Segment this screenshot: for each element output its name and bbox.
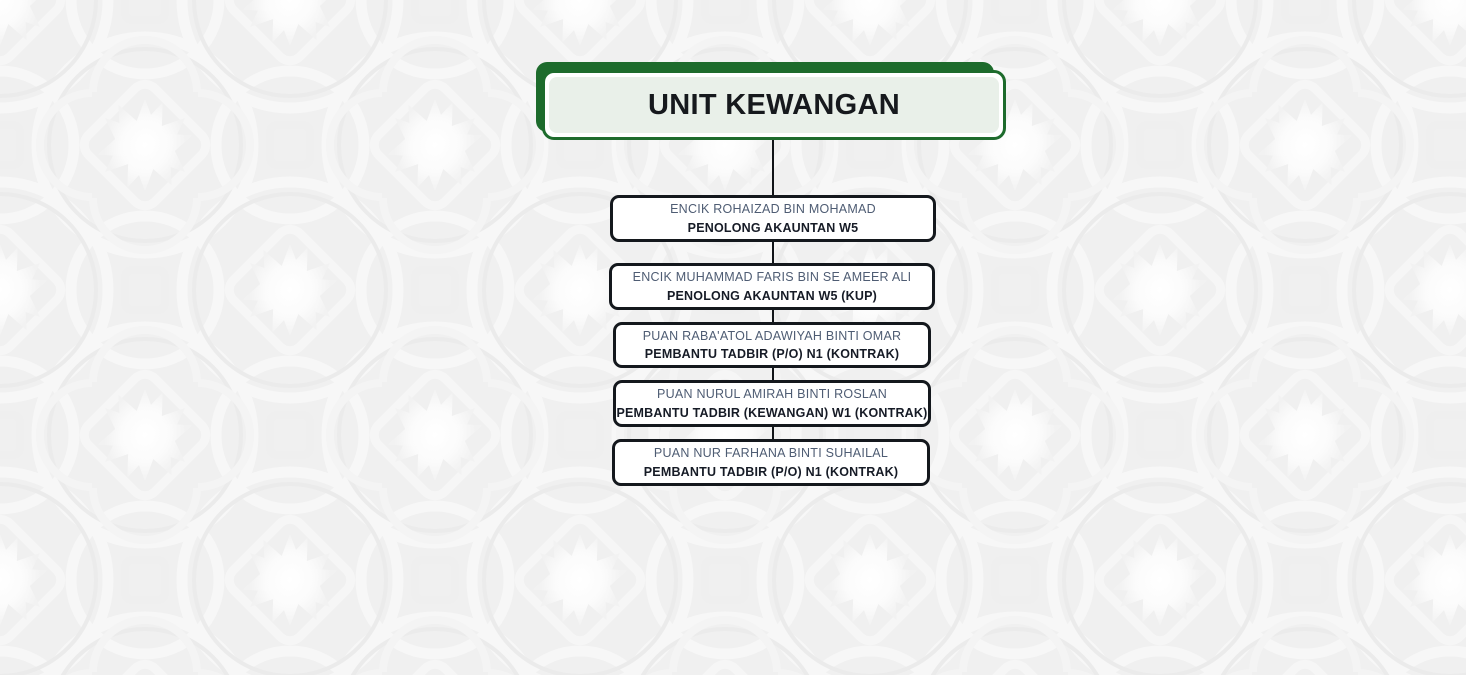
staff-position: PENOLONG AKAUNTAN W5 — [688, 219, 859, 237]
staff-card[interactable]: PUAN RABA'ATOL ADAWIYAH BINTI OMAR PEMBA… — [613, 322, 931, 368]
staff-name: PUAN NURUL AMIRAH BINTI ROSLAN — [657, 385, 887, 403]
staff-card[interactable]: ENCIK MUHAMMAD FARIS BIN SE AMEER ALI PE… — [609, 263, 935, 310]
staff-name: PUAN NUR FARHANA BINTI SUHAILAL — [654, 444, 888, 462]
staff-card[interactable]: PUAN NURUL AMIRAH BINTI ROSLAN PEMBANTU … — [613, 380, 931, 427]
staff-position: PENOLONG AKAUNTAN W5 (KUP) — [667, 287, 877, 305]
root-node-unit-kewangan[interactable]: UNIT KEWANGAN — [536, 62, 1006, 140]
staff-name: PUAN RABA'ATOL ADAWIYAH BINTI OMAR — [643, 327, 902, 345]
staff-position: PEMBANTU TADBIR (P/O) N1 (KONTRAK) — [644, 463, 898, 481]
root-node-inner: UNIT KEWANGAN — [549, 77, 999, 133]
staff-position: PEMBANTU TADBIR (P/O) N1 (KONTRAK) — [645, 345, 899, 363]
staff-name: ENCIK ROHAIZAD BIN MOHAMAD — [670, 200, 876, 218]
staff-position: PEMBANTU TADBIR (KEWANGAN) W1 (KONTRAK) — [616, 404, 927, 422]
staff-card[interactable]: ENCIK ROHAIZAD BIN MOHAMAD PENOLONG AKAU… — [610, 195, 936, 242]
organisation-chart: UNIT KEWANGAN ENCIK ROHAIZAD BIN MOHAMAD… — [0, 0, 1466, 675]
staff-name: ENCIK MUHAMMAD FARIS BIN SE AMEER ALI — [633, 268, 912, 286]
page-title: UNIT KEWANGAN — [648, 89, 900, 122]
root-node-face: UNIT KEWANGAN — [542, 70, 1006, 140]
staff-card[interactable]: PUAN NUR FARHANA BINTI SUHAILAL PEMBANTU… — [612, 439, 930, 486]
